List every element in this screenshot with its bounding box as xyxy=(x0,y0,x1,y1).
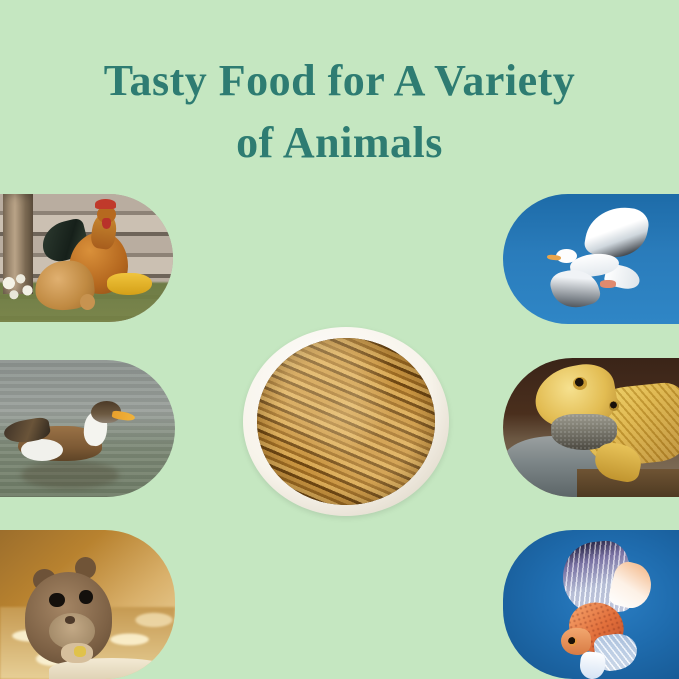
bearded-dragon-photo xyxy=(503,358,679,497)
hen-head-shape xyxy=(80,294,96,311)
bowl-interior xyxy=(257,338,434,504)
hamster-photo xyxy=(0,530,175,679)
betta-fish-image xyxy=(503,530,679,679)
hamster-image xyxy=(0,530,175,679)
page-title-line-1: Tasty Food for A Variety xyxy=(0,50,679,112)
feed-bowl-shape xyxy=(107,273,152,295)
rooster-comb-shape xyxy=(95,199,116,209)
hamster-nose-shape xyxy=(65,616,76,623)
dragon-eye-lower-shape xyxy=(609,401,620,411)
seagull-photo xyxy=(503,194,679,324)
duck-image xyxy=(0,360,175,497)
seagull-feet-shape xyxy=(600,280,616,288)
hamster-eye-right-shape xyxy=(79,590,93,605)
chickens-image xyxy=(0,194,173,322)
duck-reflection-shape xyxy=(21,461,119,488)
bowl-of-dried-mealworms xyxy=(243,327,449,516)
ground-flowers-shape xyxy=(2,273,37,301)
rooster-wattle-shape xyxy=(102,218,111,228)
product-banner: Tasty Food for A Variety of Animals xyxy=(0,0,679,679)
page-title: Tasty Food for A Variety of Animals xyxy=(0,50,679,174)
duck-photo xyxy=(0,360,175,497)
seagull-beak-shape xyxy=(547,254,562,261)
chickens-photo xyxy=(0,194,173,322)
betta-fish-photo xyxy=(503,530,679,679)
mealworms-lighting xyxy=(257,338,434,504)
seed-shape xyxy=(74,646,86,656)
fish-pelvic-fin-shape xyxy=(579,651,606,679)
page-title-line-2: of Animals xyxy=(0,112,679,174)
seagull-image xyxy=(503,194,679,324)
bearded-dragon-image xyxy=(503,358,679,497)
hamster-eye-left-shape xyxy=(49,593,65,608)
